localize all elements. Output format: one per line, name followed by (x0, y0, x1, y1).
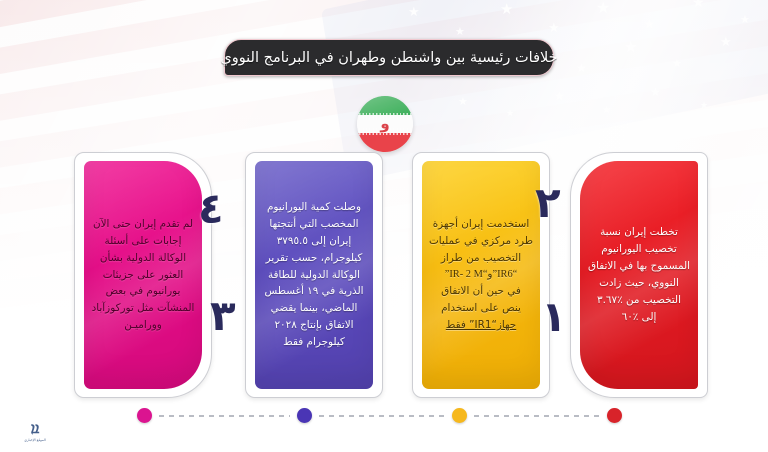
cards-container: تخطت إيران نسبةتخصيب اليورانيومالمسموح ب… (0, 0, 768, 452)
card-3-line-2: المخصب التي أنتجتها (264, 216, 363, 233)
dot-connector-3 (474, 415, 600, 417)
card-3-line-7: الماضي، بينما يقضي (264, 300, 363, 317)
card-1[interactable]: تخطت إيران نسبةتخصيب اليورانيومالمسموح ب… (570, 152, 708, 398)
card-1-numeral: ١ (541, 296, 567, 338)
card-3-line-1: وصلت كمية اليورانيوم (264, 199, 363, 216)
card-3-line-4: كيلوجرام، حسب تقرير (264, 250, 363, 267)
progress-dot-2[interactable] (452, 408, 467, 423)
card-3-numeral: ٣ (210, 295, 236, 337)
card-1-line-4: النووي، حيث زادت (588, 275, 690, 292)
brand-logo: ܐܐ الموقع الإخباري (6, 418, 64, 446)
card-1-line-6: إلى ٪٦٠ (588, 309, 690, 326)
card-2-text: استخدمت إيران أجهزةطرد مركزي في عملياتال… (422, 216, 540, 334)
card-2-line-5: في حين أن الاتفاق (429, 283, 533, 300)
card-2-line-2: طرد مركزي في عمليات (429, 233, 533, 250)
card-4-line-5: يورانيوم في بعض (92, 283, 195, 300)
logo-wordmark: الموقع الإخباري (24, 438, 46, 443)
card-2-body: استخدمت إيران أجهزةطرد مركزي في عملياتال… (422, 161, 540, 389)
progress-dot-4[interactable] (137, 408, 152, 423)
card-1-line-3: المسموح بها في الاتفاق (588, 258, 690, 275)
card-3-line-8: الاتفاق بإنتاج ٢٠٢٨ (264, 317, 363, 334)
card-2-numeral: ٢ (535, 182, 561, 224)
card-3-body: وصلت كمية اليورانيومالمخصب التي أنتجتهاإ… (255, 161, 373, 389)
card-4-line-7: ووراميـن (92, 317, 195, 334)
dot-connector-2 (319, 415, 445, 417)
card-1-line-5: التخصيب من ٪٣.٦٧ (588, 292, 690, 309)
card-1-body: تخطت إيران نسبةتخصيب اليورانيومالمسموح ب… (580, 161, 698, 389)
card-1-text: تخطت إيران نسبةتخصيب اليورانيومالمسموح ب… (581, 224, 697, 325)
card-2-line-6: ينص على استخدام (429, 300, 533, 317)
card-3-line-9: كيلوجرام فقط (264, 334, 363, 351)
card-4-text: لم تقدم إيران حتى الآنإجابات على أسئلةال… (85, 216, 202, 334)
progress-dots (0, 408, 768, 426)
progress-dot-3[interactable] (297, 408, 312, 423)
card-2-line-7: جهاز“IR1” فقط (429, 317, 533, 334)
card-2-line-1: استخدمت إيران أجهزة (429, 216, 533, 233)
card-2[interactable]: استخدمت إيران أجهزةطرد مركزي في عملياتال… (412, 152, 550, 398)
card-3[interactable]: وصلت كمية اليورانيومالمخصب التي أنتجتهاإ… (245, 152, 383, 398)
card-3-line-6: الذرية في ١٩ أغسطس (264, 283, 363, 300)
card-1-line-2: تخصيب اليورانيوم (588, 241, 690, 258)
progress-dot-1[interactable] (607, 408, 622, 423)
card-4-line-1: لم تقدم إيران حتى الآن (92, 216, 195, 233)
card-4-line-6: المنشآت مثل توركوزآباد (92, 300, 195, 317)
dot-connector-1 (159, 415, 290, 417)
card-4-line-2: إجابات على أسئلة (92, 233, 195, 250)
card-4-numeral: ٤ (198, 188, 224, 230)
card-2-line-4: “IR6”و“IR- 2 M” (429, 267, 533, 284)
card-4-body: لم تقدم إيران حتى الآنإجابات على أسئلةال… (84, 161, 202, 389)
card-3-line-3: إيران إلى ٣٧٩٥.٥ (264, 233, 363, 250)
logo-mark-icon: ܐܐ (31, 422, 40, 437)
card-4-line-4: العثور على جزيئات (92, 267, 195, 284)
card-4[interactable]: لم تقدم إيران حتى الآنإجابات على أسئلةال… (74, 152, 212, 398)
card-3-text: وصلت كمية اليورانيومالمخصب التي أنتجتهاإ… (257, 199, 370, 351)
card-2-line-3: التخصيب من طراز (429, 250, 533, 267)
card-1-line-1: تخطت إيران نسبة (588, 224, 690, 241)
card-3-line-5: الوكالة الدولية للطاقة (264, 267, 363, 284)
card-4-line-3: الوكالة الدولية بشأن (92, 250, 195, 267)
